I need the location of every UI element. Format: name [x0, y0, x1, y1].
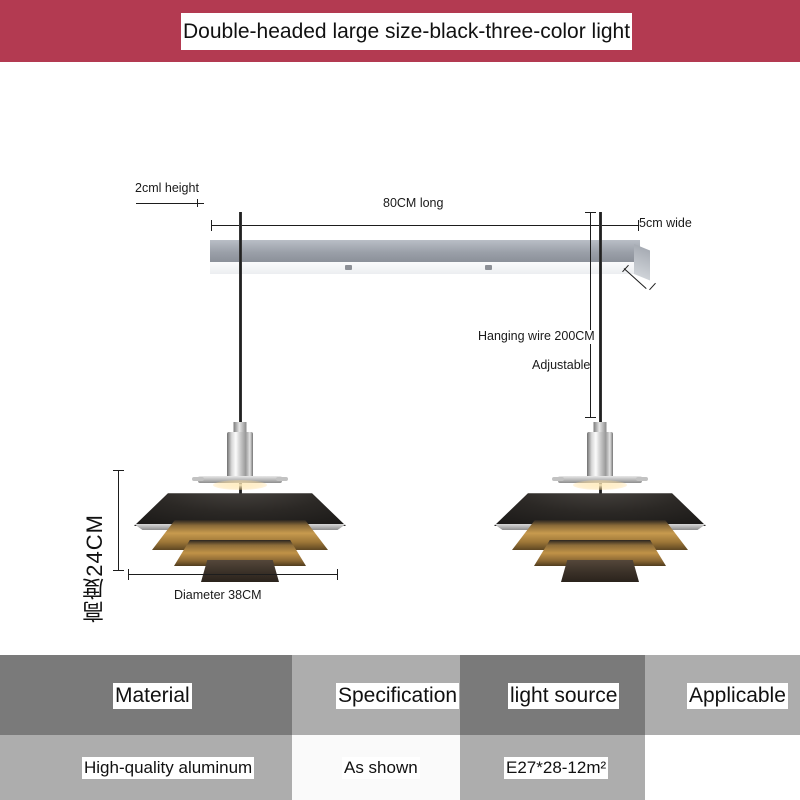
- ceiling-canopy-bar: [210, 240, 640, 274]
- shade-diameter-dimension-line: [128, 574, 338, 575]
- canopy-length-cap-left: [211, 220, 212, 231]
- canopy-screw: [485, 265, 492, 270]
- spec-value-cell-light-source: E27*28-12m²: [460, 735, 645, 800]
- spec-value-label: High-quality aluminum: [82, 757, 254, 779]
- title-band: Double-headed large size-black-three-col…: [0, 0, 800, 62]
- shade-diameter-cap-right: [337, 569, 338, 580]
- canopy-length-dimension-line: [211, 225, 639, 226]
- lamp-collar-pin: [636, 477, 648, 481]
- spec-value-cell-applicable: [645, 735, 800, 800]
- product-diagram: 80CM long 2cml height 5cm wide Hanging w…: [0, 62, 800, 655]
- lamp-glow: [573, 480, 627, 490]
- spec-value-label: As shown: [342, 757, 420, 779]
- pendant-lamp-right: [494, 432, 706, 582]
- specification-table: Material Specification light source Appl…: [0, 655, 800, 800]
- lamp-collar-pin: [552, 477, 564, 481]
- title-highlight: Double-headed large size-black-three-col…: [181, 13, 632, 50]
- hanging-wire-cap-bottom: [585, 417, 596, 418]
- lamp-socket-housing: [227, 432, 253, 478]
- spec-header-cell-light-source: light source: [460, 655, 645, 735]
- lamp-shade-bottom: [561, 560, 639, 582]
- hanging-wire-length-label: Hanging wire 200CM: [478, 330, 595, 344]
- spec-header-cell-applicable: Applicable: [645, 655, 800, 735]
- lamp-shade-bottom: [201, 560, 279, 582]
- shade-height-dimension-line: [118, 470, 119, 570]
- lamp-shade-top: [494, 484, 706, 526]
- spec-header-label: Applicable: [687, 683, 788, 709]
- canopy-length-label: 80CM long: [383, 197, 443, 211]
- page-title: Double-headed large size-black-three-col…: [183, 21, 630, 42]
- shade-diameter-cap-left: [128, 569, 129, 580]
- lamp-collar-pin: [192, 477, 204, 481]
- spec-value-label: E27*28-12m²: [504, 757, 608, 779]
- spec-header-label: light source: [508, 683, 619, 709]
- canopy-right-face: [634, 244, 650, 280]
- canopy-width-leader-tick: [649, 283, 656, 290]
- lamp-glow: [213, 480, 267, 490]
- shade-height-label: 高度24CM: [84, 514, 106, 623]
- hanging-wire-dimension-line: [590, 212, 591, 417]
- shade-height-cap-top: [113, 470, 124, 471]
- canopy-screw: [345, 265, 352, 270]
- pendant-lamp-left: [134, 432, 346, 582]
- spec-header-cell-material: Material: [0, 655, 292, 735]
- canopy-width-label: 5cm wide: [639, 217, 692, 231]
- spec-header-cell-specification: Specification: [292, 655, 460, 735]
- spec-value-cell-material: High-quality aluminum: [0, 735, 292, 800]
- spec-value-label: [655, 757, 659, 759]
- spec-value-cell-specification: As shown: [292, 735, 460, 800]
- shade-height-cap-bottom: [113, 570, 124, 571]
- lamp-socket-housing: [587, 432, 613, 478]
- spec-header-label: Specification: [336, 683, 459, 709]
- shade-diameter-label: Diameter 38CM: [174, 589, 262, 603]
- canopy-height-dimension-line: [136, 203, 204, 204]
- canopy-front-face: [210, 262, 634, 274]
- lamp-shade-top: [134, 484, 346, 526]
- lamp-collar-pin: [276, 477, 288, 481]
- canopy-top-face: [210, 240, 640, 262]
- spec-header-label: Material: [113, 683, 192, 709]
- hanging-wire-adjustable-label: Adjustable: [532, 359, 590, 373]
- canopy-height-cap: [197, 199, 198, 207]
- canopy-height-label: 2cml height: [135, 182, 199, 196]
- hanging-wire-cap-top: [585, 212, 596, 213]
